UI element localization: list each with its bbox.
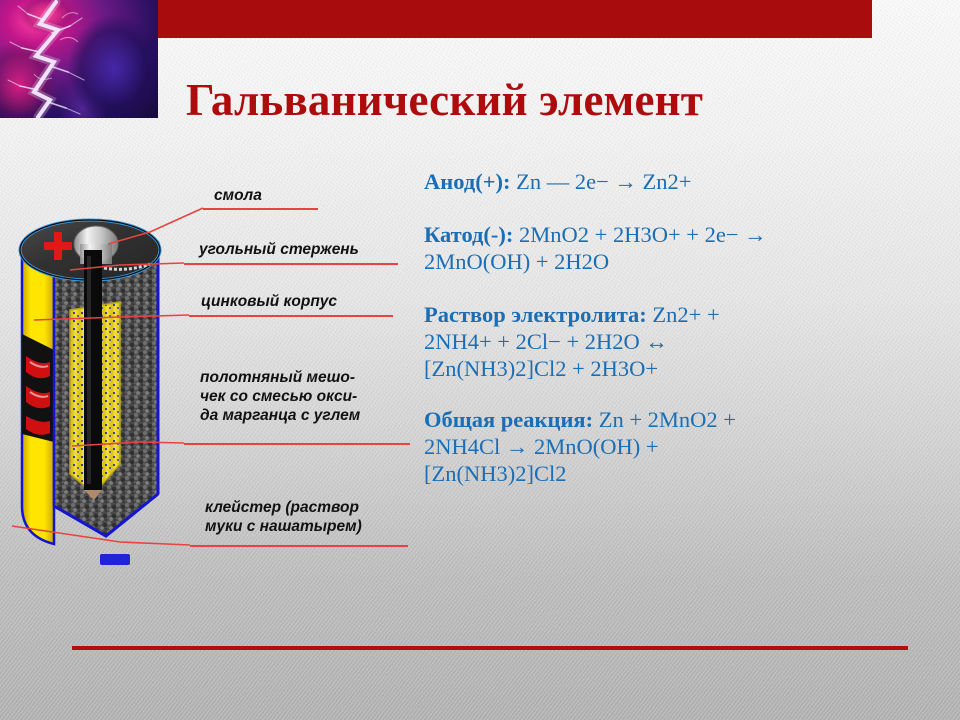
- callout-carbon-rod-rule: [184, 263, 398, 265]
- equation-anode-label: Анод(+):: [424, 169, 511, 194]
- callout-paste-line2: муки с нашатырем): [205, 518, 362, 535]
- callout-paste-line1: клейстер (раствор: [205, 499, 359, 516]
- slide-canvas: Гальванический элемент: [0, 0, 960, 720]
- chemistry-equations: Анод(+): Zn — 2e− → Zn2+ Катод(-): 2MnO2…: [424, 168, 954, 487]
- callout-linen-sack-label: полотняный мешо- чек со смесью окси- да …: [200, 368, 360, 425]
- footer-divider: [72, 646, 908, 650]
- callout-resin-rule: [203, 208, 318, 210]
- callout-zinc-case-rule: [189, 315, 393, 317]
- equation-overall-line2: 2NH4Cl → 2MnO(OH) +: [424, 434, 659, 459]
- equation-overall-line1: Zn + 2MnO2 +: [593, 407, 736, 432]
- callout-zinc-case-label: цинковый корпус: [201, 292, 337, 311]
- equation-anode-body: Zn — 2e− → Zn2+: [511, 169, 692, 194]
- callout-paste-rule: [190, 545, 408, 547]
- equation-cathode-line1: 2MnO2 + 2H3O+ + 2e− →: [513, 222, 766, 247]
- page-title: Гальванический элемент: [186, 74, 703, 126]
- equation-cathode-line2: 2MnO(OH) + 2H2O: [424, 249, 609, 274]
- equation-electrolyte-line1: Zn2+ +: [647, 302, 720, 327]
- equation-cathode-label: Катод(-):: [424, 222, 513, 247]
- callout-resin-label: смола: [214, 186, 262, 205]
- callout-linen-sack-rule: [184, 443, 410, 445]
- equation-overall: Общая реакция: Zn + 2MnO2 +2NH4Cl → 2MnO…: [424, 406, 954, 487]
- callout-carbon-rod-label: угольный стержень: [199, 240, 359, 259]
- equation-electrolyte-label: Раствор электролита:: [424, 302, 647, 327]
- callout-linen-sack-line3: да марганца с углем: [200, 407, 360, 424]
- equation-cathode: Катод(-): 2MnO2 + 2H3O+ + 2e− → 2MnO(OH)…: [424, 221, 954, 275]
- equation-electrolyte-line3: [Zn(NH3)2]Cl2 + 2H3O+: [424, 356, 658, 381]
- callout-linen-sack-line2: чек со смесью окси-: [200, 388, 357, 405]
- lightning-bolt-icon: [0, 0, 158, 118]
- equation-electrolyte-line2: 2NH4+ + 2Cl− + 2H2O ↔: [424, 329, 668, 354]
- equation-overall-line3: [Zn(NH3)2]Cl2: [424, 461, 566, 486]
- equation-overall-label: Общая реакция:: [424, 407, 593, 432]
- header-red-bar: [158, 0, 872, 38]
- callout-linen-sack-line1: полотняный мешо-: [200, 369, 355, 386]
- lightning-figure-image: [0, 0, 158, 118]
- callout-paste-label: клейстер (раствор муки с нашатырем): [205, 498, 362, 536]
- equation-electrolyte: Раствор электролита: Zn2+ +2NH4+ + 2Cl− …: [424, 301, 954, 382]
- equation-anode: Анод(+): Zn — 2e− → Zn2+: [424, 168, 954, 195]
